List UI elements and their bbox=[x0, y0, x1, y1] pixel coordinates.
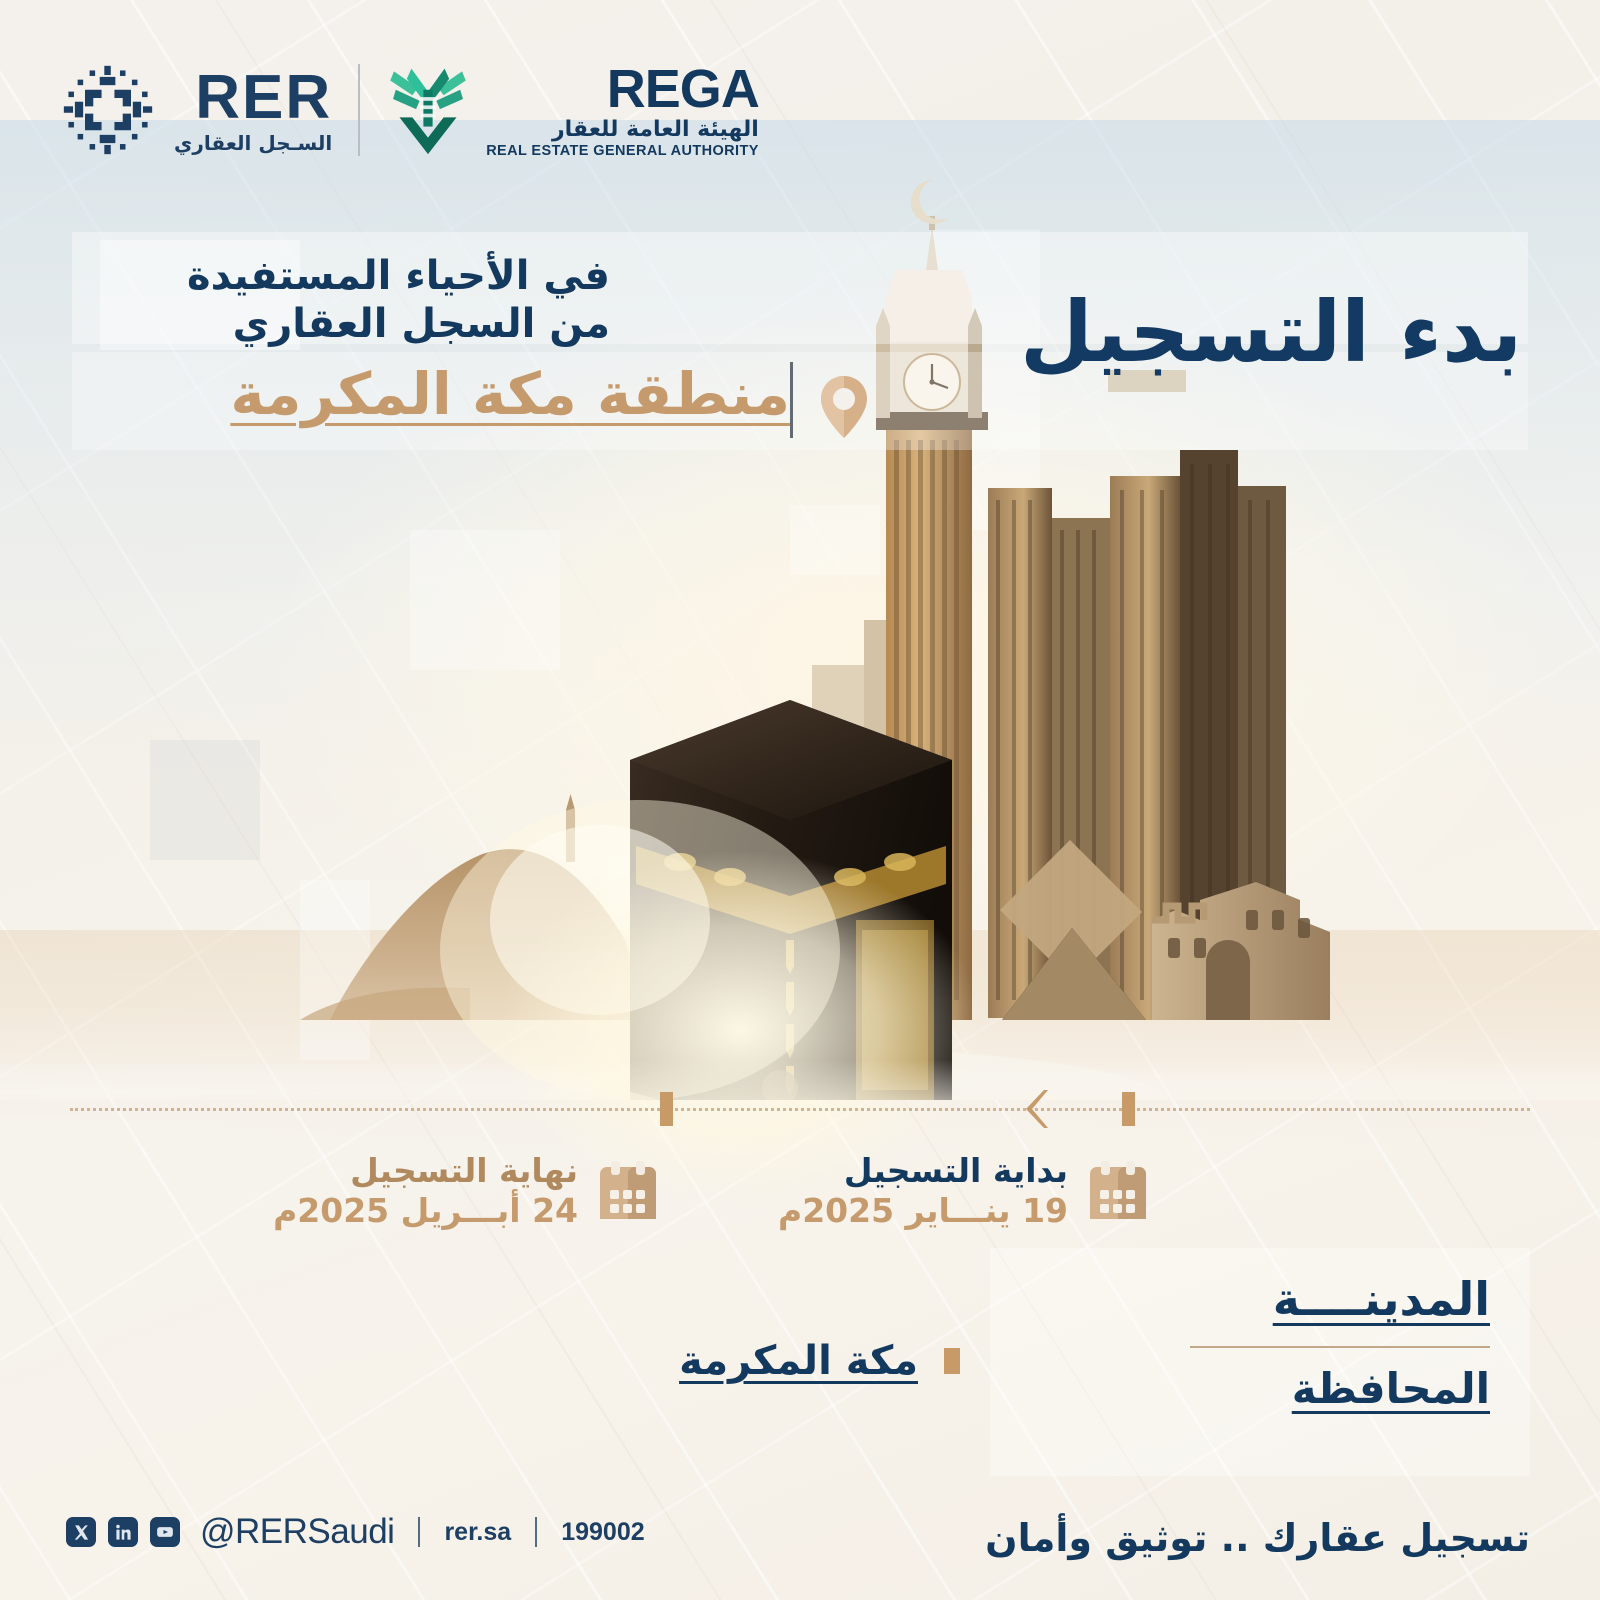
rega-logo: REGA الهيئة العامة للعقار REAL ESTATE GE… bbox=[386, 62, 759, 159]
governorate-label: المحافظة bbox=[1070, 1364, 1490, 1413]
city-value: مكة المكرمة bbox=[679, 1338, 918, 1384]
linkedin-icon[interactable] bbox=[108, 1517, 138, 1547]
page-title: بدء التسجيل bbox=[1020, 290, 1600, 374]
phone-number[interactable]: 199002 bbox=[561, 1518, 644, 1547]
city-value-row: مكة المكرمة bbox=[679, 1338, 960, 1384]
timeline-axis bbox=[70, 1108, 1530, 1111]
timeline-tick-end bbox=[660, 1092, 673, 1126]
registration-dates: بداية التسجيل 19 ينـــاير 2025م bbox=[70, 1145, 1530, 1255]
rega-palm-icon bbox=[386, 64, 470, 156]
calendar-icon bbox=[1086, 1159, 1150, 1223]
calendar-icon bbox=[596, 1159, 660, 1223]
youtube-icon[interactable] bbox=[150, 1517, 180, 1547]
decor-panel bbox=[410, 530, 560, 670]
timeline-arrow-icon bbox=[1022, 1090, 1048, 1128]
registration-end-value: 24 أبـــريل 2025م bbox=[273, 1193, 578, 1229]
rer-arabic-name: السـجل العقاري bbox=[174, 133, 332, 153]
headline-kicker: في الأحياء المستفيدة من السجل العقاري bbox=[150, 252, 610, 348]
region-name: منطقة مكة المكرمة bbox=[230, 360, 790, 428]
location-pin-icon bbox=[816, 374, 872, 440]
social-handle[interactable]: @RERSaudi bbox=[200, 1512, 394, 1552]
rega-wordmark: REGA bbox=[607, 62, 759, 116]
registration-end: نهاية التسجيل 24 أبـــريل 2025م bbox=[273, 1153, 660, 1228]
footer-contacts: @RERSaudi rer.sa 199002 bbox=[66, 1512, 645, 1552]
decor-panel bbox=[608, 850, 658, 1010]
rega-english-name: REAL ESTATE GENERAL AUTHORITY bbox=[486, 144, 759, 159]
website-link[interactable]: rer.sa bbox=[444, 1518, 511, 1547]
decor-panel bbox=[150, 740, 260, 860]
city-label: المدينــــة bbox=[1070, 1272, 1490, 1326]
pixel-circle-icon bbox=[62, 64, 154, 156]
label-divider bbox=[1190, 1346, 1490, 1348]
rer-logo: RER السـجل العقاري bbox=[62, 64, 332, 156]
brand-logos: RER السـجل العقاري bbox=[62, 62, 759, 159]
footer-tagline: تسجيل عقارك .. توثيق وأمان bbox=[985, 1516, 1530, 1560]
decor-panel bbox=[855, 780, 925, 960]
registration-start-label: بداية التسجيل bbox=[778, 1153, 1068, 1189]
footer-divider bbox=[418, 1517, 420, 1547]
registration-start: بداية التسجيل 19 ينـــاير 2025م bbox=[778, 1153, 1150, 1228]
footer-divider bbox=[535, 1517, 537, 1547]
registration-start-value: 19 ينـــاير 2025م bbox=[778, 1193, 1068, 1229]
rer-wordmark: RER bbox=[195, 67, 332, 129]
registration-end-label: نهاية التسجيل bbox=[273, 1153, 578, 1189]
ground-wash bbox=[0, 930, 1600, 1150]
decor-panel bbox=[790, 505, 880, 575]
decor-panel bbox=[300, 880, 370, 1060]
logo-divider bbox=[358, 64, 360, 156]
region-divider bbox=[790, 362, 793, 438]
location-labels: المدينــــة المحافظة bbox=[1070, 1272, 1490, 1413]
rega-arabic-name: الهيئة العامة للعقار bbox=[552, 119, 759, 141]
x-icon[interactable] bbox=[66, 1517, 96, 1547]
poster-root: RER السـجل العقاري bbox=[0, 0, 1600, 1600]
region-row: منطقة مكة المكرمة bbox=[140, 360, 790, 428]
timeline-tick-start bbox=[1122, 1092, 1135, 1126]
square-bullet-icon bbox=[944, 1348, 960, 1374]
